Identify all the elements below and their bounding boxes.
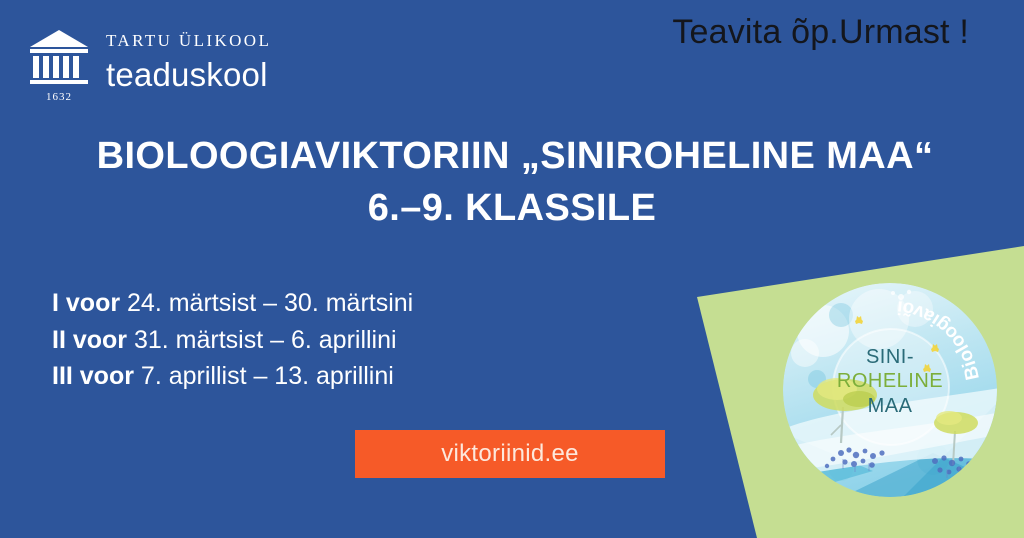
cta-label: viktoriinid.ee xyxy=(441,440,579,468)
round-label: I voor xyxy=(52,289,120,317)
title-line-1: BIOLOOGIAVIKTORIIN „SINIROHELINE MAA“ xyxy=(0,133,1024,179)
logo-year-label: 1632 xyxy=(28,91,90,103)
page-title: BIOLOOGIAVIKTORIIN „SINIROHELINE MAA“ 6.… xyxy=(0,133,1024,232)
title-line-2: 6.–9. KLASSILE xyxy=(0,185,1024,231)
rounds-schedule: I voor 24. märtsist – 30. märtsini II vo… xyxy=(52,285,413,395)
university-building-icon: 1632 xyxy=(28,28,90,100)
round-dates: 31. märtsist – 6. aprillini xyxy=(134,326,397,354)
poster-canvas: 1632 TARTU ÜLIKOOL teaduskool Teavita õp… xyxy=(0,0,1024,538)
logo-wordmark: TARTU ÜLIKOOL teaduskool xyxy=(106,28,271,94)
viktoriinid-link-button[interactable]: viktoriinid.ee xyxy=(355,430,665,478)
tartu-ulikool-teaduskool-logo: 1632 TARTU ÜLIKOOL teaduskool xyxy=(28,28,271,100)
siniroheline-maa-badge: Bioloogiavõistlus SINI- ROHELINE MAA xyxy=(783,283,997,497)
logo-school-name: teaduskool xyxy=(106,56,271,94)
round-label: III voor xyxy=(52,362,134,390)
round-row: II voor 31. märtsist – 6. aprillini xyxy=(52,322,413,359)
round-row: III voor 7. aprillist – 13. aprillini xyxy=(52,358,413,395)
annotation-text: Teavita õp.Urmast ! xyxy=(672,13,969,52)
round-row: I voor 24. märtsist – 30. märtsini xyxy=(52,285,413,322)
round-dates: 7. aprillist – 13. aprillini xyxy=(141,362,394,390)
logo-university-name: TARTU ÜLIKOOL xyxy=(106,32,271,49)
round-label: II voor xyxy=(52,326,127,354)
round-dates: 24. märtsist – 30. märtsini xyxy=(127,289,413,317)
